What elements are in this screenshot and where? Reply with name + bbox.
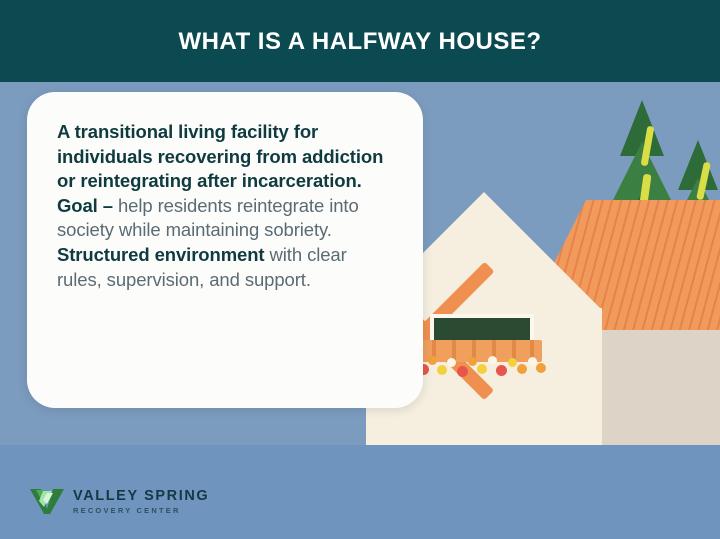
- card-body-text: A transitional living facility for indiv…: [57, 120, 393, 292]
- logo-wordmark: VALLEY SPRING RECOVERY CENTER: [73, 488, 209, 515]
- info-card: A transitional living facility for indiv…: [27, 92, 423, 408]
- card-structure-label: Structured environment: [57, 244, 265, 265]
- brand-logo[interactable]: VALLEY SPRING RECOVERY CENTER: [30, 487, 209, 515]
- logo-name: VALLEY SPRING: [73, 489, 209, 504]
- logo-subtitle: RECOVERY CENTER: [73, 507, 209, 515]
- card-lead-text: A transitional living facility for indiv…: [57, 120, 393, 194]
- infographic-canvas: WHAT IS A HALFWAY HOUSE? A transitional …: [0, 0, 720, 539]
- card-goal-label: Goal –: [57, 195, 113, 216]
- page-title: WHAT IS A HALFWAY HOUSE?: [178, 28, 541, 54]
- header-band: WHAT IS A HALFWAY HOUSE?: [0, 0, 720, 82]
- flower-box-blooms: [418, 356, 546, 382]
- valley-spring-chevron-mark-icon: [30, 487, 64, 515]
